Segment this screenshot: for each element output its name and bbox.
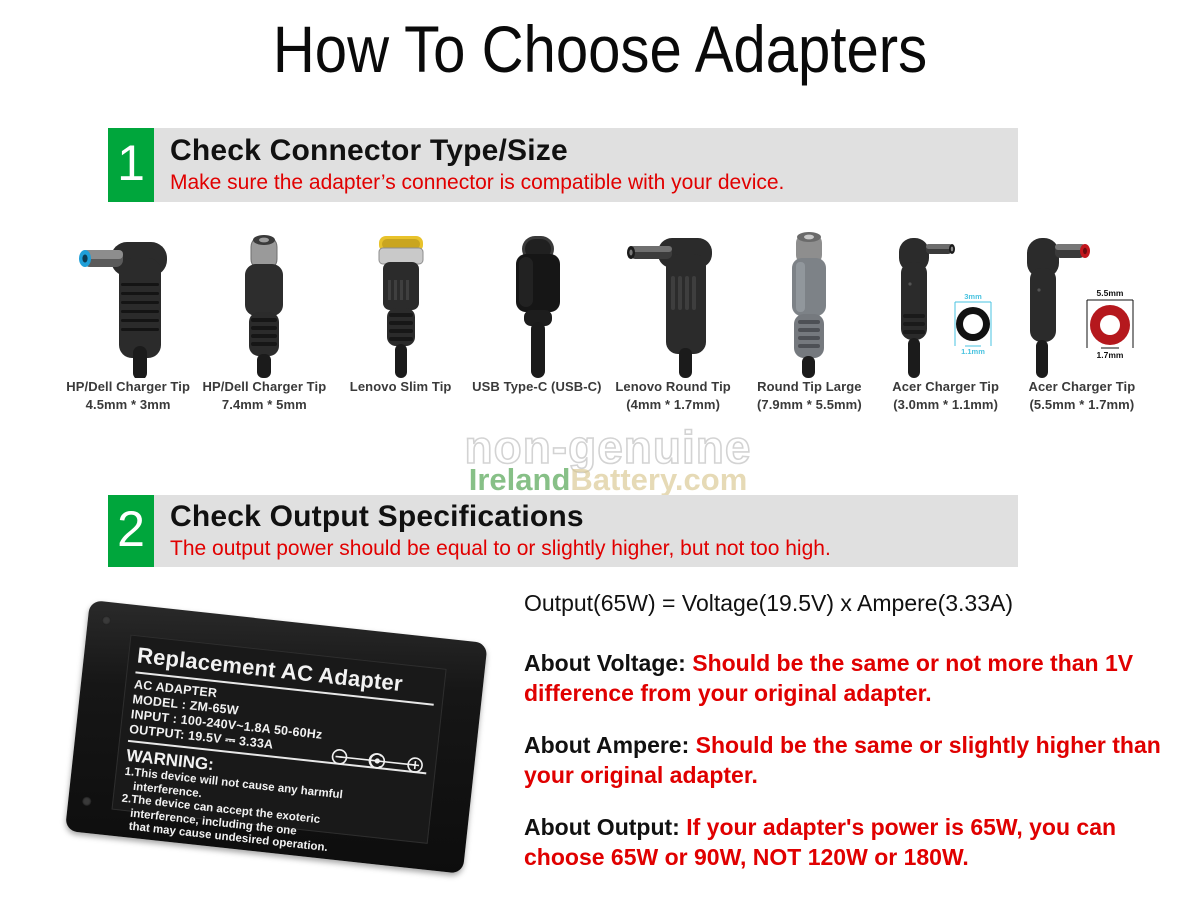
- adapter-photo: Replacement AC Adapter AC ADAPTER MODEL …: [80, 578, 510, 878]
- about-voltage-line: About Voltage: Should be the same or not…: [524, 648, 1164, 708]
- connector-name-0: HP/Dell Charger Tip: [66, 379, 190, 394]
- about-ampere-line: About Ampere: Should be the same or slig…: [524, 730, 1164, 790]
- connector-item-3: USB Type-C (USB-C): [469, 228, 605, 438]
- connector-name-3: USB Type-C (USB-C): [472, 379, 601, 394]
- connector-item-2: Lenovo Slim Tip: [333, 228, 469, 438]
- connector-size-7: (5.5mm * 1.7mm): [1028, 396, 1135, 414]
- connector-name-6: Acer Charger Tip: [892, 379, 999, 394]
- connector-gallery: HP/Dell Charger Tip 4.5mm * 3mm: [60, 228, 1150, 438]
- lenovo-slim-tip-icon: [333, 228, 469, 378]
- connector-size-0: 4.5mm * 3mm: [66, 396, 190, 414]
- connector-caption-1: HP/Dell Charger Tip 7.4mm * 5mm: [203, 378, 327, 414]
- connector-item-7: 5.5mm 1.7mm Acer Charger Tip (5.5mm * 1.…: [1014, 228, 1150, 438]
- step-2-badge: 2: [108, 495, 154, 567]
- about-output-line: About Output: If your adapter's power is…: [524, 812, 1164, 872]
- step-1-subtitle: Make sure the adapter’s connector is com…: [170, 170, 1018, 196]
- svg-text:3mm: 3mm: [964, 292, 982, 301]
- step-2-title: Check Output Specifications: [170, 500, 1018, 534]
- about-output-label: About Output:: [524, 814, 686, 840]
- connector-caption-4: Lenovo Round Tip (4mm * 1.7mm): [615, 378, 730, 414]
- connector-caption-0: HP/Dell Charger Tip 4.5mm * 3mm: [66, 378, 190, 414]
- svg-text:5.5mm: 5.5mm: [1096, 288, 1123, 298]
- step-1-header: 1 Check Connector Type/Size Make sure th…: [108, 128, 1018, 202]
- step-2-body: Check Output Specifications The output p…: [154, 495, 1018, 567]
- screw-icon: [82, 796, 92, 806]
- connector-name-2: Lenovo Slim Tip: [350, 379, 452, 394]
- connector-caption-6: Acer Charger Tip (3.0mm * 1.1mm): [892, 378, 999, 414]
- poster-root: How To Choose Adapters 1 Check Connector…: [0, 0, 1200, 900]
- connector-item-4: Lenovo Round Tip (4mm * 1.7mm): [605, 228, 741, 438]
- adapter-body: Replacement AC Adapter AC ADAPTER MODEL …: [65, 600, 488, 874]
- about-ampere-label: About Ampere:: [524, 732, 696, 758]
- connector-caption-7: Acer Charger Tip (5.5mm * 1.7mm): [1028, 378, 1135, 414]
- adapter-spec-label: Replacement AC Adapter AC ADAPTER MODEL …: [111, 635, 446, 844]
- usb-type-c-icon: [469, 228, 605, 378]
- connector-item-1: HP/Dell Charger Tip 7.4mm * 5mm: [196, 228, 332, 438]
- connector-item-6: 3mm 1.1mm Acer Charger Tip (3.0mm * 1.1m…: [878, 228, 1014, 438]
- watermark-site: IrelandBattery.com: [398, 462, 818, 498]
- step-2-header: 2 Check Output Specifications The output…: [108, 495, 1018, 567]
- connector-item-0: HP/Dell Charger Tip 4.5mm * 3mm: [60, 228, 196, 438]
- hp-blue-tip-icon: [60, 228, 196, 378]
- acer-tip-large-icon: 5.5mm 1.7mm: [1014, 228, 1150, 378]
- round-tip-large-icon: [741, 228, 877, 378]
- connector-size-5: (7.9mm * 5.5mm): [757, 396, 862, 414]
- output-equation: Output(65W) = Voltage(19.5V) x Ampere(3.…: [524, 588, 1164, 618]
- connector-size-4: (4mm * 1.7mm): [615, 396, 730, 414]
- connector-name-1: HP/Dell Charger Tip: [203, 379, 327, 394]
- step-2-subtitle: The output power should be equal to or s…: [170, 536, 1018, 562]
- watermark-site-part2: Battery.com: [570, 462, 747, 497]
- connector-name-5: Round Tip Large: [757, 379, 862, 394]
- connector-size-1: 7.4mm * 5mm: [203, 396, 327, 414]
- connector-name-4: Lenovo Round Tip: [615, 379, 730, 394]
- connector-item-5: Round Tip Large (7.9mm * 5.5mm): [741, 228, 877, 438]
- screw-icon: [101, 615, 111, 625]
- connector-name-7: Acer Charger Tip: [1028, 379, 1135, 394]
- acer-tip-small-icon: 3mm 1.1mm: [878, 228, 1014, 378]
- page-title: How To Choose Adapters: [72, 14, 1128, 84]
- connector-caption-3: USB Type-C (USB-C): [472, 378, 601, 396]
- connector-size-6: (3.0mm * 1.1mm): [892, 396, 999, 414]
- step-1-badge: 1: [108, 128, 154, 202]
- lenovo-round-tip-icon: [605, 228, 741, 378]
- hp-barrel-tip-icon: [196, 228, 332, 378]
- output-info-block: Output(65W) = Voltage(19.5V) x Ampere(3.…: [524, 588, 1164, 894]
- connector-caption-5: Round Tip Large (7.9mm * 5.5mm): [757, 378, 862, 414]
- svg-text:1.1mm: 1.1mm: [961, 347, 985, 356]
- step-1-body: Check Connector Type/Size Make sure the …: [154, 128, 1018, 202]
- about-voltage-label: About Voltage:: [524, 650, 692, 676]
- connector-caption-2: Lenovo Slim Tip: [350, 378, 452, 396]
- step-1-title: Check Connector Type/Size: [170, 134, 1018, 168]
- watermark-site-part1: Ireland: [469, 462, 571, 497]
- svg-text:1.7mm: 1.7mm: [1096, 350, 1123, 360]
